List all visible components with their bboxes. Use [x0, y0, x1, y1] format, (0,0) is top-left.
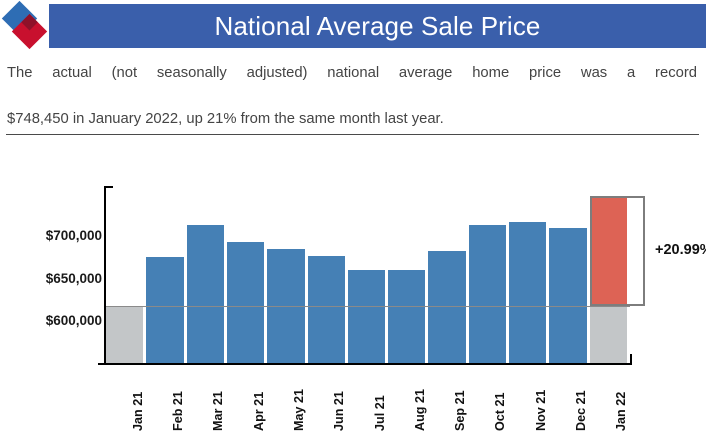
- page-title: National Average Sale Price: [215, 11, 541, 42]
- chart-bar: [308, 256, 345, 363]
- x-axis-tick-label: Jan 21: [131, 392, 145, 431]
- chart-bar-base-segment: [590, 306, 627, 363]
- y-axis-top-cap: [104, 186, 113, 188]
- chart-bar: [146, 257, 183, 363]
- x-axis-tick-label: Sep 21: [453, 390, 467, 431]
- x-axis-right-cap: [630, 354, 632, 365]
- title-banner: National Average Sale Price: [49, 4, 706, 48]
- y-axis-tick-label: $600,000: [0, 313, 102, 328]
- x-axis-tick-label: Nov 21: [534, 390, 548, 431]
- x-axis-tick-label: Feb 21: [171, 391, 185, 431]
- x-axis-tick-label: Aug 21: [413, 389, 427, 431]
- x-axis-tick-label: Apr 21: [252, 392, 266, 431]
- x-axis-tick-label: Jan 22: [614, 392, 628, 431]
- diamond-logo: [4, 4, 48, 48]
- summary-paragraph: The actual (not seasonally adjusted) nat…: [7, 62, 697, 131]
- y-axis-tick-label: $650,000: [0, 271, 102, 286]
- chart-bar: [348, 270, 385, 363]
- x-axis-tick-label: Oct 21: [493, 392, 507, 431]
- chart-bar: [509, 222, 546, 363]
- bar-chart: $600,000$650,000$700,000 Jan 21Feb 21Mar…: [0, 150, 706, 442]
- x-axis-line: [98, 363, 632, 365]
- header: National Average Sale Price: [0, 0, 706, 52]
- summary-line-2: $748,450 in January 2022, up 21% from th…: [7, 108, 697, 131]
- chart-bar: [227, 242, 264, 363]
- y-axis-tick-label: $700,000: [0, 228, 102, 243]
- baseline-reference-line: [106, 306, 630, 307]
- chart-bar: [187, 225, 224, 363]
- chart-bar: [106, 306, 143, 363]
- growth-annotation-label: +20.99%: [655, 242, 706, 258]
- x-axis-tick-label: Mar 21: [211, 391, 225, 431]
- chart-bar: [549, 228, 586, 363]
- horizontal-divider: [6, 134, 699, 135]
- x-axis-tick-label: Jun 21: [332, 391, 346, 431]
- chart-bar: [388, 270, 425, 363]
- chart-bar: [469, 225, 506, 363]
- x-axis-tick-label: May 21: [292, 389, 306, 431]
- x-axis-tick-label: Jul 21: [373, 395, 387, 431]
- summary-line-1: The actual (not seasonally adjusted) nat…: [7, 62, 697, 108]
- x-axis-tick-label: Dec 21: [574, 390, 588, 431]
- growth-annotation-bracket: [590, 196, 645, 307]
